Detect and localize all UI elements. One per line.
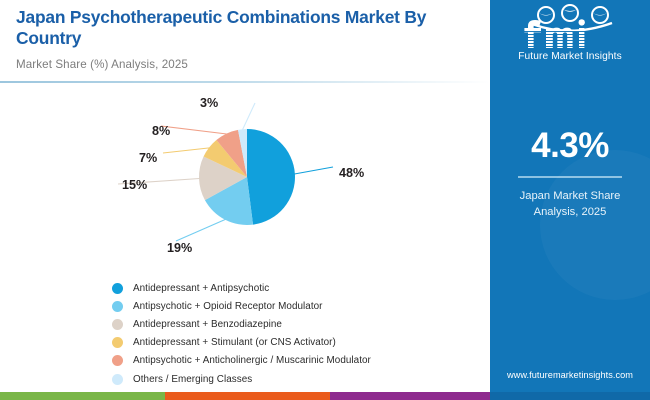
pie-slice-label: 48% [339,166,364,180]
stat-caption: Japan Market Share Analysis, 2025 [490,188,650,220]
infographic-page: Japan Psychotherapeutic Combinations Mar… [0,0,650,400]
stat-caption-line1: Japan Market Share [490,188,650,204]
fmi-logo-tagline: Future Market Insights [490,51,650,62]
pie-slices [199,129,295,225]
pie-leader-line [161,126,227,134]
page-subtitle: Market Share (%) Analysis, 2025 [16,58,188,71]
fmi-logo: Future Market Insights [490,4,650,62]
header-divider [0,81,490,83]
legend-label: Antidepressant + Stimulant (or CNS Activ… [133,337,336,348]
pie-leader-line [243,103,255,130]
legend-label: Others / Emerging Classes [133,374,252,385]
brand-panel: Future Market Insights 4.3% Japan Market… [490,0,650,392]
page-title: Japan Psychotherapeutic Combinations Mar… [16,7,484,48]
website-url: www.futuremarketinsights.com [490,370,650,380]
legend-label: Antidepressant + Benzodiazepine [133,319,282,330]
pie-leader-line [294,167,333,174]
legend-swatch-icon [112,374,123,385]
pie-slice [247,129,295,225]
orange-segment [165,392,330,400]
legend-item: Antidepressant + Antipsychotic [112,279,492,297]
header: Japan Psychotherapeutic Combinations Mar… [0,0,490,84]
blue-segment [490,392,650,400]
legend-swatch-icon [112,283,123,294]
pie-leader-line [163,148,209,153]
stat-value: 4.3% [490,128,650,163]
legend-swatch-icon [112,337,123,348]
chart-legend: Antidepressant + AntipsychoticAntipsycho… [112,279,492,388]
stat-divider [518,176,622,178]
legend-item: Antipsychotic + Opioid Receptor Modulato… [112,297,492,315]
purple-segment [330,392,490,400]
legend-item: Antipsychotic + Anticholinergic / Muscar… [112,352,492,370]
pie-slice-label: 19% [167,241,192,255]
pie-leader-line [176,219,225,241]
pie-slice-label: 15% [122,178,147,192]
pie-slice-label: 3% [200,96,218,110]
legend-swatch-icon [112,301,123,312]
footer-color-bar [0,392,650,400]
pie-slice-label: 8% [152,124,170,138]
pie-chart: 48%19%15%7%8%3% [0,84,490,274]
stat-block: 4.3% Japan Market Share Analysis, 2025 [490,128,650,220]
legend-swatch-icon [112,319,123,330]
legend-item: Others / Emerging Classes [112,370,492,388]
green-segment [0,392,165,400]
fmi-logo-mark [506,4,634,50]
legend-item: Antidepressant + Stimulant (or CNS Activ… [112,334,492,352]
pie-slice-label: 7% [139,151,157,165]
legend-label: Antipsychotic + Anticholinergic / Muscar… [133,355,371,366]
stat-caption-line2: Analysis, 2025 [490,204,650,220]
legend-label: Antipsychotic + Opioid Receptor Modulato… [133,301,323,312]
legend-label: Antidepressant + Antipsychotic [133,283,269,294]
legend-item: Antidepressant + Benzodiazepine [112,315,492,333]
legend-swatch-icon [112,355,123,366]
pie-chart-svg [0,84,490,274]
